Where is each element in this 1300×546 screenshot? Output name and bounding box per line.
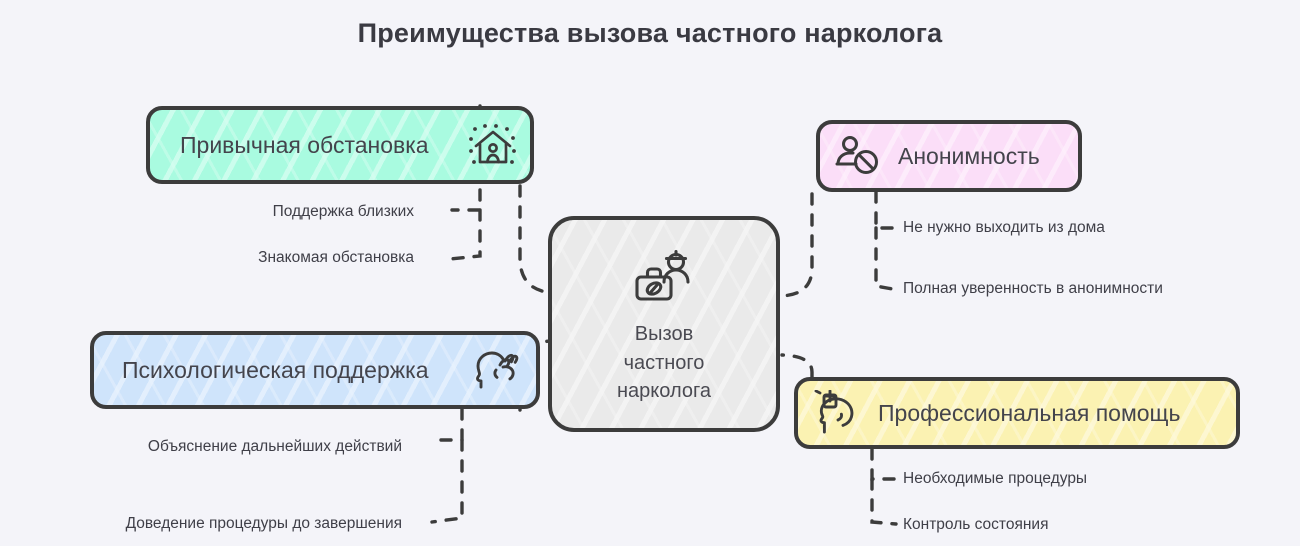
wire-anon-to-center (778, 194, 812, 296)
branch-node-professional-help[interactable]: Профессиональная помощь (794, 377, 1240, 449)
wire-psy-leaf-1 (430, 409, 462, 440)
leaf-home-2: Знакомая обстановка (258, 249, 414, 267)
doctor-with-medical-bag-icon (628, 248, 700, 310)
leaf-psy-2: Доведение процедуры до завершения (126, 515, 402, 533)
leaf-prof-2: Контроль состояния (903, 516, 1048, 534)
wire-anon-leaf-1 (876, 192, 896, 228)
head-with-medical-cross-icon (812, 390, 864, 436)
wire-anon-leaf-2 (876, 228, 898, 290)
branch-node-anonymity[interactable]: Анонимность (816, 120, 1082, 192)
branch-node-psychological-support[interactable]: Психологическая поддержка (90, 331, 540, 409)
leaf-psy-1: Объяснение дальнейших действий (148, 438, 402, 456)
central-topic-label: Вызов частного нарколога (617, 320, 711, 405)
leaf-anon-1: Не нужно выходить из дома (903, 219, 1105, 237)
person-prohibited-icon (834, 134, 884, 178)
house-with-person-icon (468, 122, 518, 168)
wire-prof-leaf-2 (872, 479, 896, 524)
branch-label-psychological-support: Психологическая поддержка (122, 357, 429, 384)
page-title: Преимущества вызова частного нарколога (0, 18, 1300, 49)
branch-label-home: Привычная обстановка (180, 132, 429, 159)
wire-prof-to-center (782, 355, 812, 377)
branch-node-home[interactable]: Привычная обстановка (146, 106, 534, 184)
wire-home-leaf-2 (450, 210, 480, 259)
leaf-anon-2: Полная уверенность в анонимности (903, 280, 1163, 298)
leaf-home-1: Поддержка близких (273, 203, 414, 221)
central-topic-node[interactable]: Вызов частного нарколога (548, 216, 780, 432)
mindmap-canvas: Преимущества вызова частного нарколога (0, 0, 1300, 546)
head-with-supporting-hand-icon (472, 347, 524, 393)
leaf-prof-1: Необходимые процедуры (903, 470, 1087, 488)
branch-label-anonymity: Анонимность (898, 143, 1040, 170)
wire-prof-leaf-1 (872, 449, 896, 479)
branch-label-professional-help: Профессиональная помощь (878, 400, 1180, 427)
wire-psy-leaf-2 (432, 440, 462, 522)
